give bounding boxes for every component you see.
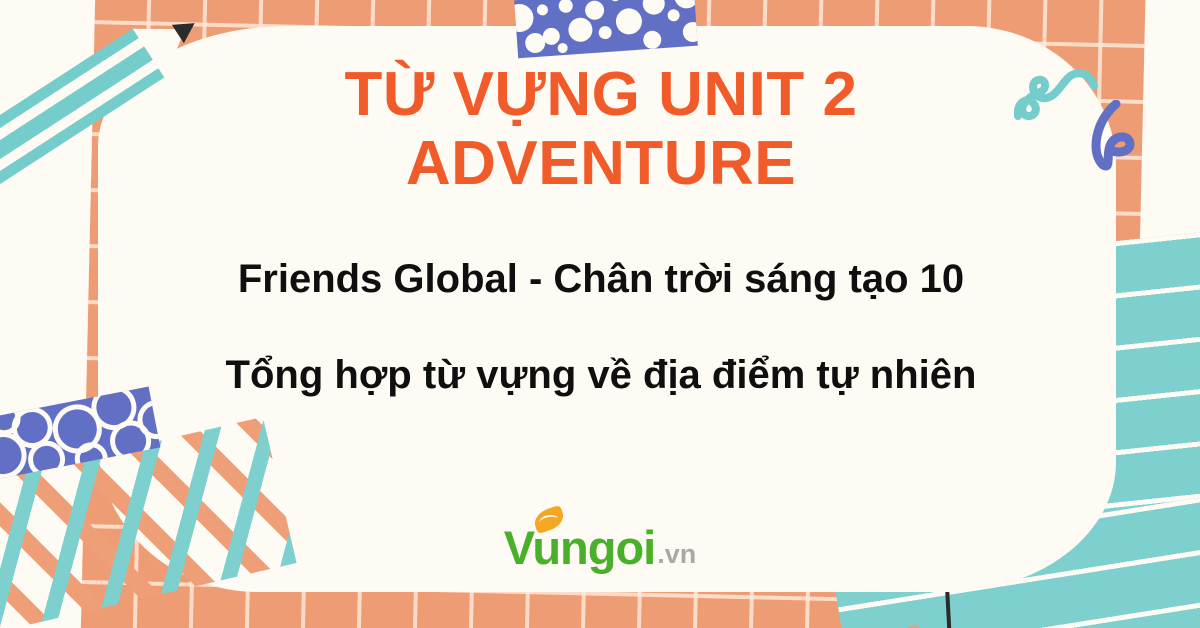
tape-dot [667,9,680,22]
logo-tld-text: .vn [657,541,696,571]
title-line-1: TỪ VỰNG UNIT 2 [345,60,858,129]
tape-dot [525,32,546,53]
tape-dot [568,17,594,43]
tape-dot [584,0,604,20]
tape-dot [682,21,698,42]
logo-brand-text: Vungoi [504,521,656,574]
logo-wordmark: Vungoi [504,524,656,571]
punch-hole-dot [900,624,927,628]
tape-dot [674,0,698,9]
tape-dot [514,3,534,33]
tape-dot [598,26,612,40]
title-line-2: ADVENTURE [118,129,1084,198]
tape-dot [642,0,665,15]
poster-text-block: TỪ VỰNG UNIT 2 ADVENTURE Friends Global … [118,60,1084,399]
tape-dot [610,0,621,2]
blue-squiggle-icon [1084,100,1138,172]
tape-dot [643,30,662,49]
subtitle-course: Friends Global - Chân trời sáng tạo 10 [118,255,1084,303]
poster-canvas: TỪ VỰNG UNIT 2 ADVENTURE Friends Global … [0,0,1200,628]
tape-dot [615,8,643,36]
subtitle-description: Tổng hợp từ vựng về địa điểm tự nhiên [118,351,1084,399]
tape-dot [558,0,573,13]
page-title: TỪ VỰNG UNIT 2 ADVENTURE [118,60,1084,199]
brand-logo[interactable]: Vungoi .vn [0,524,1200,571]
tape-dot [537,4,549,16]
tape-dot [557,43,568,54]
